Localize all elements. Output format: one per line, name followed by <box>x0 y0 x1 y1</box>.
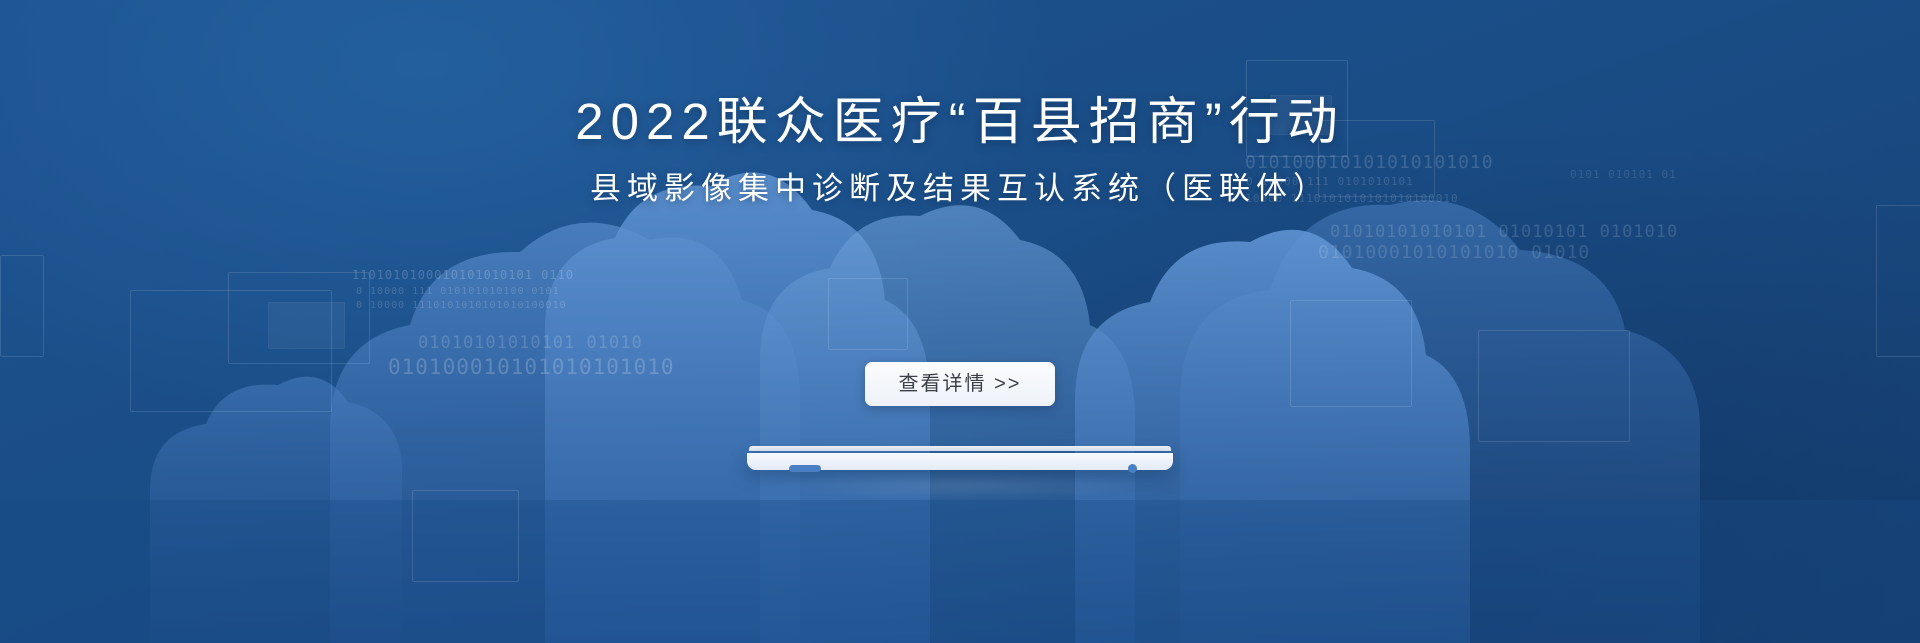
cta-container: 查看详情 >> <box>0 362 1920 406</box>
deco-rect-right-edge <box>1876 205 1920 357</box>
banner-subtitle: 县域影像集中诊断及结果互认系统（医联体） <box>0 170 1920 209</box>
device-base <box>747 453 1173 470</box>
deco-rect-far-left <box>0 255 44 357</box>
cloud-shape-far-left <box>150 377 402 643</box>
cloud-shape-right <box>1075 230 1470 643</box>
binary-text-2: 0 10000 111 010101010100 0101 <box>356 286 560 297</box>
device-indicator-bar <box>789 465 821 472</box>
device-lid <box>749 446 1171 451</box>
cloud-shape-center <box>760 205 1135 643</box>
binary-text-3: 0 10000 1110101010101010100010 <box>356 300 567 311</box>
binary-text-10: 01010001010101010 01010 <box>1318 242 1590 263</box>
device-camera-dot <box>1128 464 1137 473</box>
binary-text-4: 01010101010101 01010 <box>418 333 643 353</box>
cloud-shape-back-right <box>1180 200 1700 643</box>
deco-rect-left-lower <box>412 490 519 582</box>
deco-rect-left-filled <box>268 302 345 349</box>
cloud-shape-left <box>330 223 800 643</box>
hero-text-block: 2022联众医疗“百县招商”行动 县域影像集中诊断及结果互认系统（医联体） <box>0 92 1920 209</box>
device-glow <box>774 470 1146 500</box>
banner-title: 2022联众医疗“百县招商”行动 <box>0 92 1920 152</box>
cloud-haze-bottom <box>0 500 1920 643</box>
cloud-shape-center-left <box>545 173 930 643</box>
laptop-device-graphic <box>747 446 1173 472</box>
view-details-button[interactable]: 查看详情 >> <box>865 362 1056 406</box>
binary-text-1: 1101010100010101010101 0110 <box>352 268 574 282</box>
deco-rect-center <box>828 278 908 350</box>
deco-rect-left-2 <box>228 272 370 364</box>
promo-banner: 1101010100010101010101 0110 0 10000 111 … <box>0 0 1920 643</box>
binary-text-9: 01010101010101 01010101 0101010 <box>1330 222 1678 242</box>
